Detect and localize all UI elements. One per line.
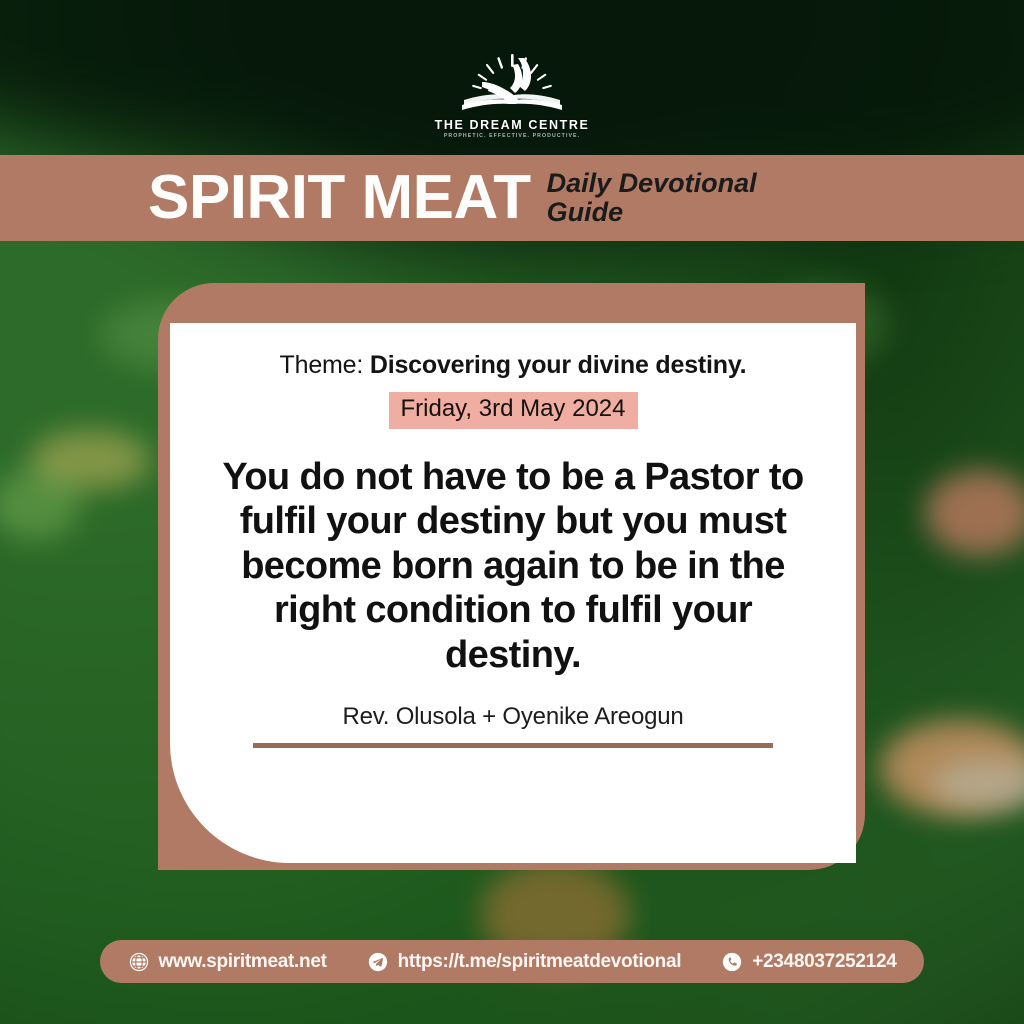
- devotional-quote: You do not have to be a Pastor to fulfil…: [204, 455, 822, 677]
- globe-icon: [128, 951, 150, 973]
- page-subtitle: Daily Devotional Guide: [547, 169, 817, 226]
- footer-label-website: www.spiritmeat.net: [159, 951, 327, 973]
- devotional-poster: THE DREAM CENTRE PROPHETIC. EFFECTIVE. P…: [0, 0, 1024, 1024]
- header-band: SPIRIT MEAT Daily Devotional Guide: [0, 155, 1024, 241]
- ministry-logo: THE DREAM CENTRE PROPHETIC. EFFECTIVE. P…: [0, 52, 1024, 139]
- theme-value: Discovering your divine destiny.: [370, 351, 747, 379]
- phone-icon: [721, 951, 743, 973]
- author-name: Rev. Olusola + Oyenike Areogun: [204, 703, 822, 731]
- logo-tagline: PROPHETIC. EFFECTIVE. PRODUCTIVE.: [444, 133, 580, 139]
- telegram-icon: [367, 951, 389, 973]
- devotional-card: Theme: Discovering your divine destiny. …: [170, 323, 856, 863]
- contact-footer-bar: www.spiritmeat.net https://t.me/spiritme…: [100, 940, 924, 983]
- divider: [253, 743, 773, 748]
- footer-label-phone: +2348037252124: [752, 951, 896, 973]
- logo-name: THE DREAM CENTRE: [435, 118, 590, 132]
- eagle-over-open-book-icon: [454, 52, 570, 114]
- footer-item-telegram[interactable]: https://t.me/spiritmeatdevotional: [367, 951, 682, 973]
- footer-item-phone[interactable]: +2348037252124: [721, 951, 896, 973]
- date-row: Friday, 3rd May 2024: [204, 392, 822, 429]
- theme-label: Theme:: [280, 351, 364, 379]
- theme-line: Theme: Discovering your divine destiny.: [204, 351, 822, 380]
- page-title: SPIRIT MEAT: [148, 167, 531, 229]
- date-badge: Friday, 3rd May 2024: [389, 392, 638, 429]
- footer-label-telegram: https://t.me/spiritmeatdevotional: [398, 951, 682, 973]
- footer-item-website[interactable]: www.spiritmeat.net: [128, 951, 327, 973]
